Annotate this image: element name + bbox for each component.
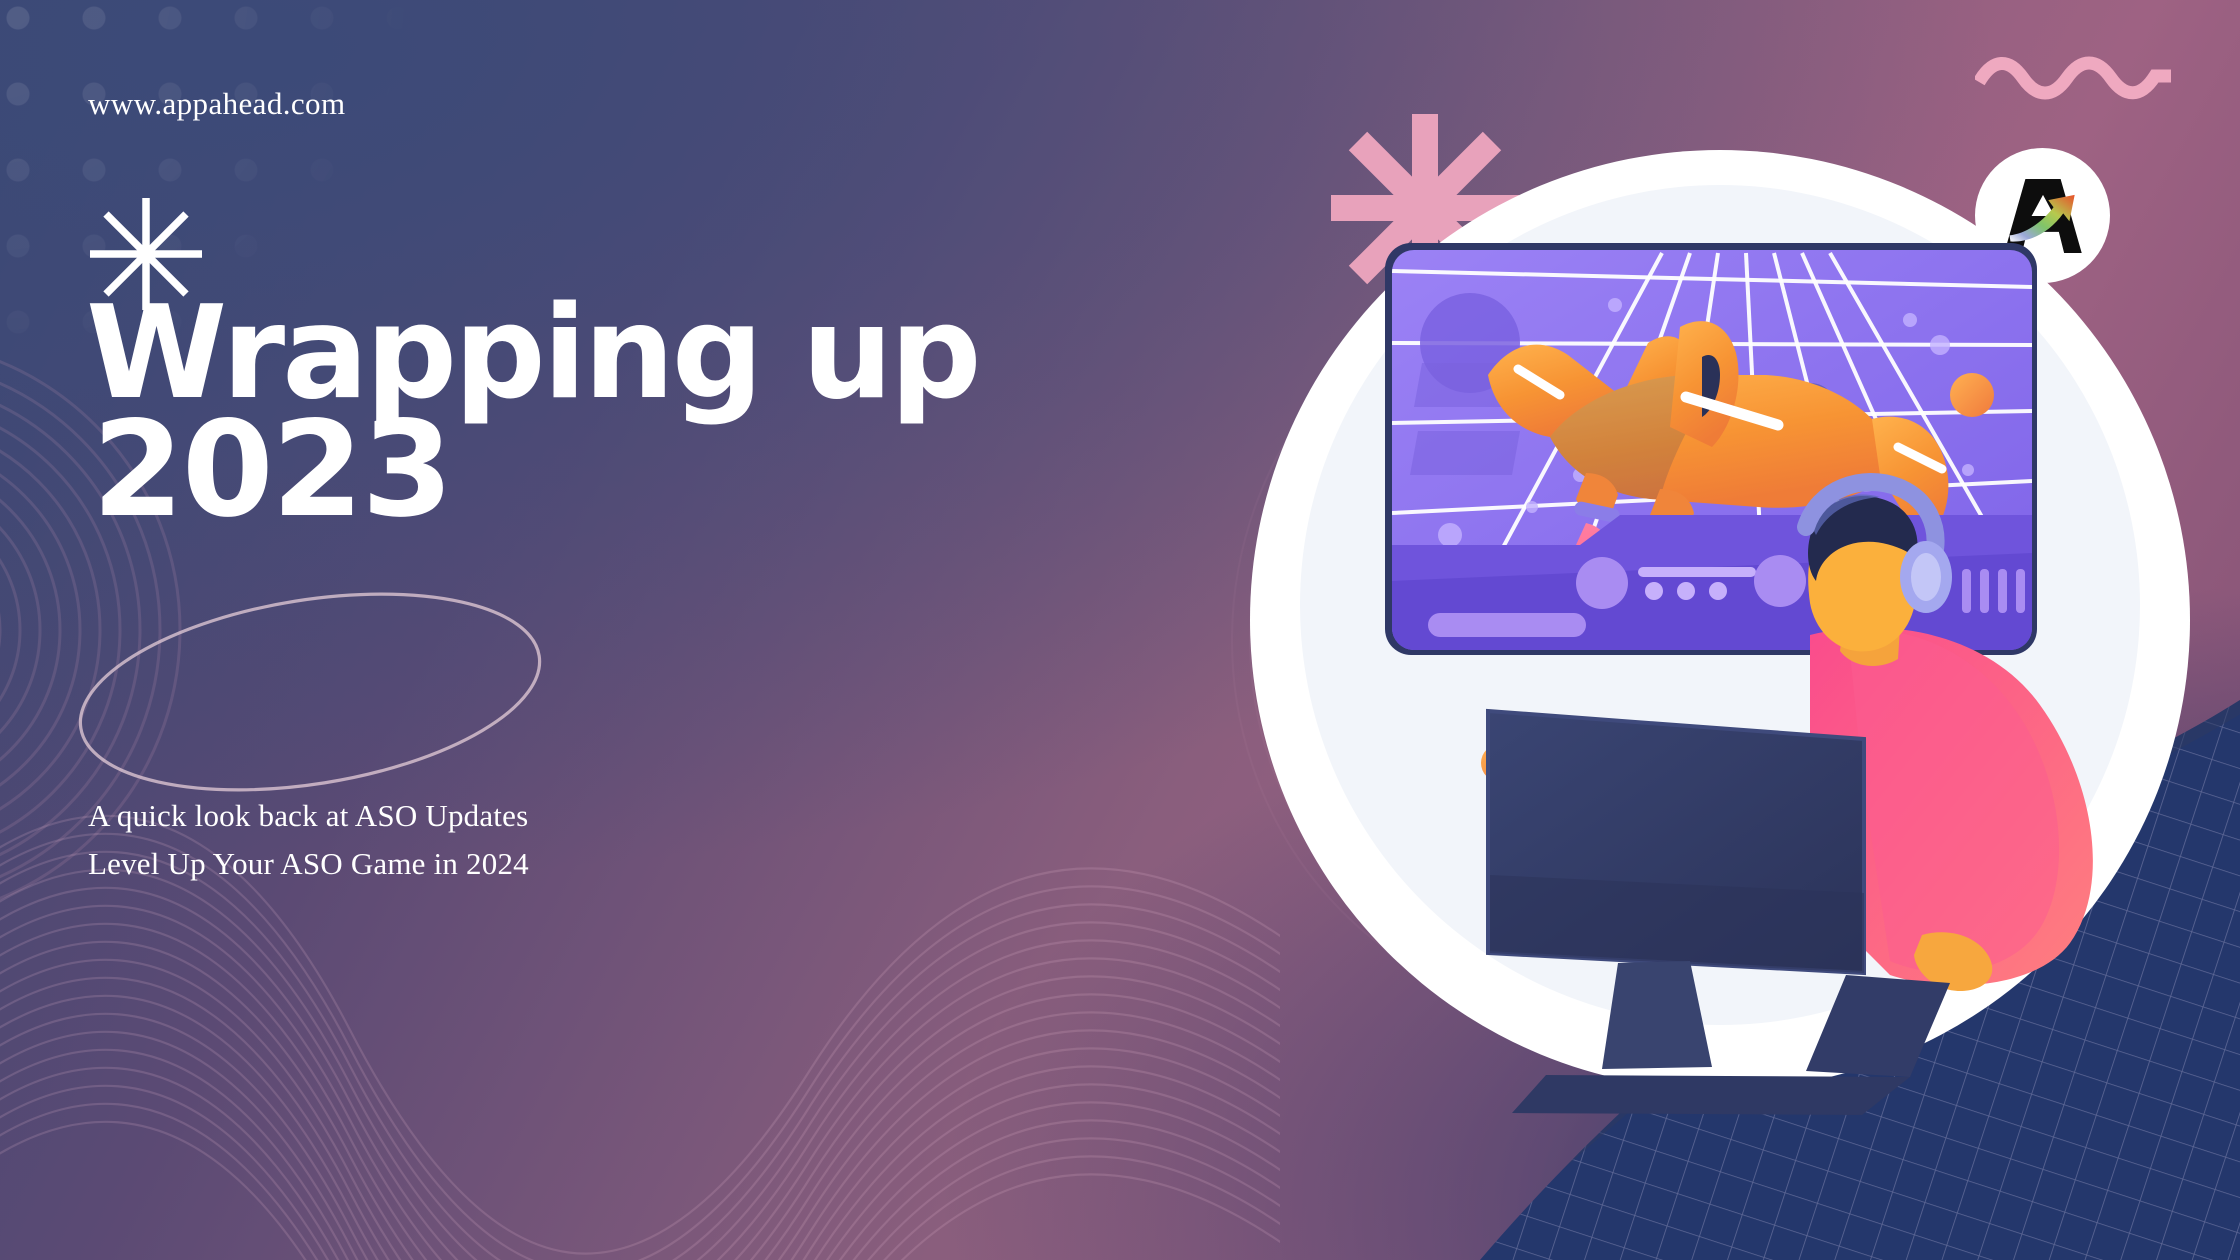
subtitle-line-2: Level Up Your ASO Game in 2024 <box>88 840 529 888</box>
ellipse-outline-decoration <box>60 574 560 809</box>
subtitle-line-1: A quick look back at ASO Updates <box>88 792 529 840</box>
headline-line-2: 2023 <box>86 411 906 530</box>
marketing-banner: www.appahead.com Wrapping up 2023 A quic… <box>0 0 2240 1260</box>
page-title: Wrapping up 2023 <box>86 296 906 530</box>
gamer-playing-space-shooter <box>1250 75 2200 1180</box>
subtitle: A quick look back at ASO Updates Level U… <box>88 792 529 888</box>
game-screen <box>1385 243 2050 655</box>
orange-planet-screen <box>1950 373 1994 417</box>
website-url[interactable]: www.appahead.com <box>88 86 345 122</box>
